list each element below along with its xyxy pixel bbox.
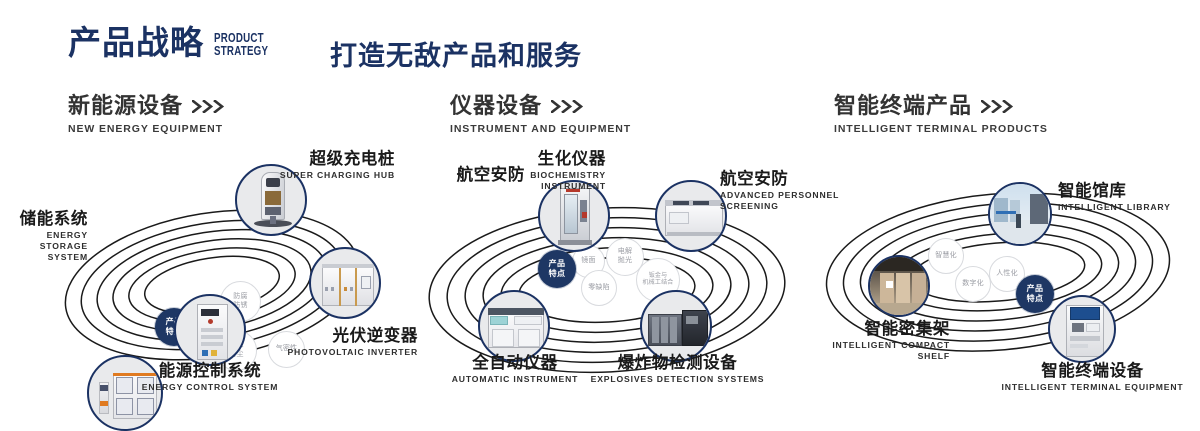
node-explosives-detection-systems[interactable] — [640, 290, 712, 362]
node-automatic-instrument[interactable] — [478, 290, 550, 362]
cluster-instrument: 镜面 电解 抛光 钣金与 机械工结合 零缺陷 产品 特点 生化仪器 BIOCHE… — [400, 150, 820, 400]
section-title-cn: 智能终端产品 — [834, 95, 972, 117]
product-feature-badge: 产品 特点 — [1016, 275, 1054, 313]
feature-bubble: 智慧化 — [928, 238, 964, 274]
label-intelligent-terminal-equipment: 智能终端设备 INTELLIGENT TERMINAL EQUIPMENT — [990, 362, 1195, 393]
label-aviation-security-left: 航空安防 — [400, 166, 525, 184]
section-title-new-energy: 新能源设备 NEW ENERGY EQUIPMENT — [68, 95, 226, 135]
page-title-en: PRODUCT STRATEGY — [214, 32, 268, 57]
label-explosives-detection-systems: 爆炸物检测设备 EXPLOSIVES DETECTION SYSTEMS — [560, 354, 795, 385]
page-title-en-line1: PRODUCT — [214, 32, 268, 45]
node-intelligent-compact-shelf[interactable] — [868, 255, 930, 317]
node-intelligent-terminal-equipment[interactable] — [1048, 295, 1116, 363]
label-energy-control-system: 能源控制系统 ENERGY CONTROL SYSTEM — [80, 362, 340, 393]
section-title-en: INSTRUMENT AND EQUIPMENT — [450, 124, 631, 135]
label-intelligent-library: 智能馆库 INTELLIGENT LIBRARY — [1058, 182, 1200, 213]
page-title-en-line2: STRATEGY — [214, 45, 268, 58]
node-energy-control-system[interactable] — [174, 294, 246, 366]
section-title-cn: 仪器设备 — [450, 95, 542, 117]
badge-line2: 特点 — [1027, 294, 1044, 304]
label-energy-storage-system: 储能系统 ENERGY STORAGE SYSTEM — [0, 210, 88, 262]
section-title-instrument: 仪器设备 INSTRUMENT AND EQUIPMENT — [450, 95, 631, 135]
cluster-new-energy: 户外 防腐 防锈 气密性 防水 防尘 产品 特点 — [0, 150, 420, 400]
page-title-cn: 产品战略 — [68, 26, 204, 59]
node-advanced-personnel-screening[interactable] — [655, 180, 727, 252]
section-title-intelligent-terminal: 智能终端产品 INTELLIGENT TERMINAL PRODUCTS — [834, 95, 1048, 135]
cluster-intelligent-terminal: 智慧化 数字化 人性化 产品 特点 智能馆库 INTELLIGENT LIBRA… — [800, 150, 1200, 400]
chevrons-right-icon — [981, 100, 1015, 113]
label-super-charging-hub: 超级充电桩 SUPER CHARGING HUB — [190, 150, 395, 181]
chevrons-right-icon — [192, 100, 226, 113]
product-feature-badge: 产品 特点 — [538, 250, 576, 288]
badge-line1: 产品 — [1027, 284, 1044, 294]
chevrons-right-icon — [551, 100, 585, 113]
section-title-en: NEW ENERGY EQUIPMENT — [68, 124, 226, 135]
feature-bubble: 零缺陷 — [581, 270, 617, 306]
label-intelligent-compact-shelf: 智能密集架 INTELLIGENT COMPACT SHELF — [770, 320, 950, 362]
page-title: 产品战略 PRODUCT STRATEGY — [68, 26, 284, 59]
page-subtitle: 打造无敌产品和服务 — [330, 34, 582, 73]
node-photovoltaic-inverter[interactable] — [309, 247, 381, 319]
node-intelligent-library[interactable] — [988, 182, 1052, 246]
section-title-en: INTELLIGENT TERMINAL PRODUCTS — [834, 124, 1048, 135]
product-strategy-infographic: 产品战略 PRODUCT STRATEGY 打造无敌产品和服务 新能源设备 NE… — [0, 0, 1200, 422]
section-title-cn: 新能源设备 — [68, 95, 183, 117]
badge-line1: 产品 — [549, 259, 566, 269]
badge-line2: 特点 — [549, 269, 566, 279]
feature-bubble: 数字化 — [955, 266, 991, 302]
